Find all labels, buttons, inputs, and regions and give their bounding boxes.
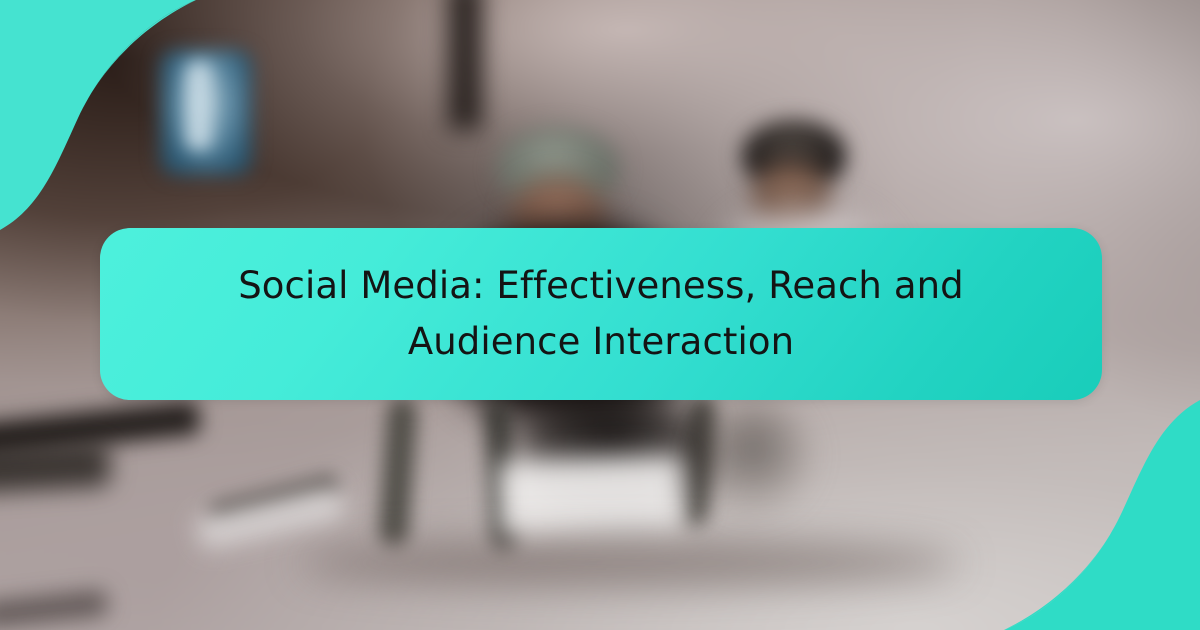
background-dark-bar-two	[0, 442, 111, 494]
background-ground-shadow	[300, 540, 960, 586]
title-banner: Social Media: Effectiveness, Reach and A…	[100, 228, 1102, 400]
teal-wave-corner-shape	[0, 0, 196, 230]
page-title: Social Media: Effectiveness, Reach and A…	[160, 258, 1042, 370]
background-dark-post	[448, 0, 482, 130]
teal-wave-corner-shape	[1004, 400, 1200, 630]
background-wheel	[700, 400, 810, 512]
social-card: Social Media: Effectiveness, Reach and A…	[0, 0, 1200, 630]
background-white-panel	[497, 455, 686, 539]
decoration-bottom-right	[900, 400, 1200, 630]
decoration-top-left	[0, 0, 300, 230]
